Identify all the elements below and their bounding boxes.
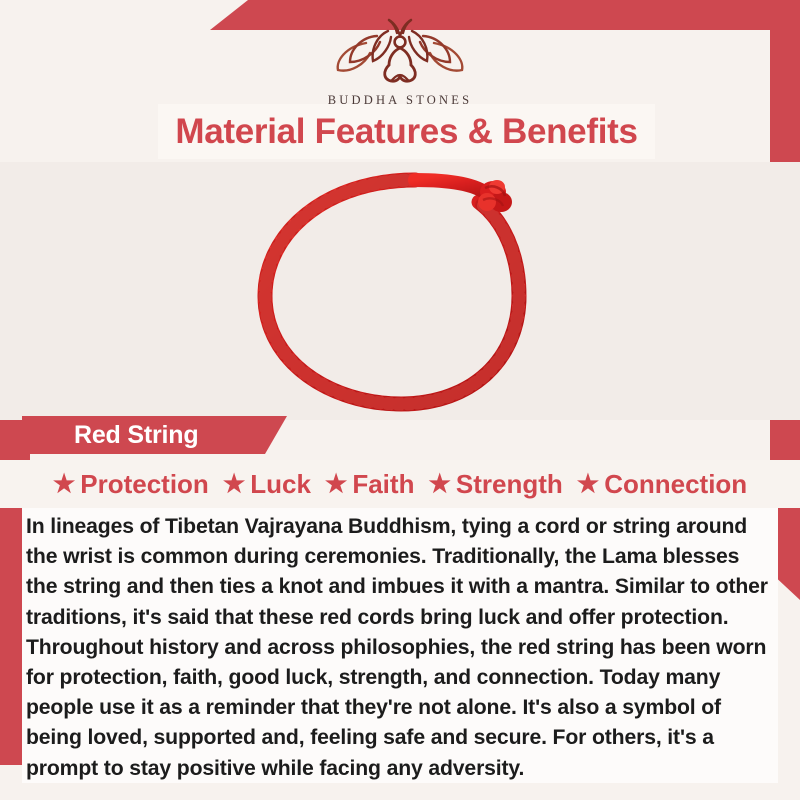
benefit-list: ★ Protection ★ Luck ★ Faith ★ Strength ★… [0, 460, 800, 508]
star-icon: ★ [325, 472, 347, 497]
page-title: Material Features & Benefits [175, 114, 637, 149]
benefit-item-protection: ★ Protection [53, 469, 209, 500]
benefit-label: Connection [604, 469, 747, 500]
benefit-label: Strength [456, 469, 563, 500]
star-icon: ★ [53, 472, 75, 497]
description-paragraph: In lineages of Tibetan Vajrayana Buddhis… [22, 508, 778, 784]
benefit-label: Luck [250, 469, 311, 500]
material-name-ribbon: Red String [22, 416, 287, 454]
red-braided-bracelet-illustration [235, 162, 565, 420]
benefit-label: Protection [80, 469, 209, 500]
benefit-item-strength: ★ Strength [428, 469, 562, 500]
brand-header: BUDDHA STONES [0, 0, 800, 108]
description-panel: In lineages of Tibetan Vajrayana Buddhis… [22, 508, 778, 783]
benefit-item-faith: ★ Faith [325, 469, 415, 500]
benefit-item-luck: ★ Luck [223, 469, 311, 500]
material-name-label: Red String [74, 421, 198, 450]
benefit-label: Faith [352, 469, 414, 500]
product-image-area [0, 162, 800, 420]
star-icon: ★ [577, 472, 599, 497]
star-icon: ★ [223, 472, 245, 497]
lotus-meditation-figure-icon [325, 17, 475, 89]
infographic-page: BUDDHA STONES Material Features & Benefi… [0, 0, 800, 800]
benefit-item-connection: ★ Connection [577, 469, 747, 500]
star-icon: ★ [428, 472, 450, 497]
page-title-bar: Material Features & Benefits [158, 104, 655, 159]
